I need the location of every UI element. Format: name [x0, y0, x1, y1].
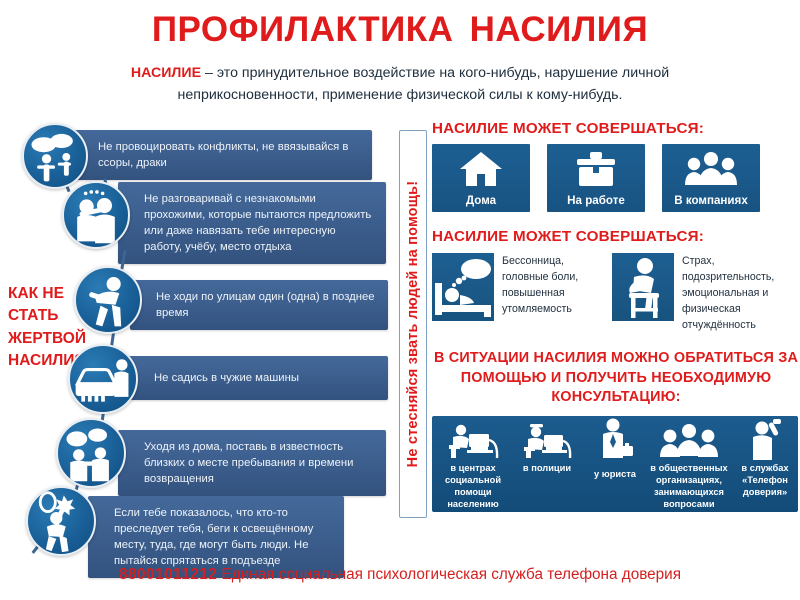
list-item[interactable]: Не садись в чужие машины	[128, 356, 388, 400]
symptom-text: Бессонница, головные боли, повышенная ут…	[502, 253, 598, 317]
briefcase-icon	[547, 149, 645, 189]
help-option-label: у юриста	[594, 469, 636, 479]
place-label: На работе	[547, 194, 645, 207]
help-option-label: в службах «Телефон доверия»	[741, 463, 788, 497]
place-label: Дома	[432, 194, 530, 207]
ngo-group-icon	[646, 420, 732, 460]
symptom-text: Страх, подозрительность, эмоциональная и…	[682, 253, 778, 333]
list-item[interactable]: Не провоцировать конфликты, не ввязывайс…	[72, 130, 372, 180]
group-people-icon	[662, 149, 760, 189]
help-option-label: в центрах социальной помощи населению	[445, 463, 501, 509]
list-item[interactable]: Не ходи по улицам один (одна) в позднее …	[130, 280, 388, 330]
place-label: В компаниях	[662, 194, 760, 207]
symptoms-section-title: НАСИЛИЕ МОЖЕТ СОВЕРШАТЬСЯ:	[432, 228, 800, 245]
tip-text: Уходя из дома, поставь в известность бли…	[118, 430, 386, 496]
hotline-footer: 88001011212 Единая социальная психологич…	[0, 566, 800, 584]
person-on-stool-icon	[612, 253, 674, 321]
tip-text: Не разговаривай с незнакомыми прохожими,…	[118, 182, 386, 264]
places-section-title: НАСИЛИЕ МОЖЕТ СОВЕРШАТЬСЯ:	[432, 120, 800, 137]
prevention-tips-column: КАК НЕ СТАТЬ ЖЕРТВОЙ НАСИЛИЯ Не провоцир…	[0, 118, 400, 558]
insomnia-bed-icon	[432, 253, 494, 321]
stranger-talking-icon	[62, 181, 130, 249]
definition-text: НАСИЛИЕ – это принудительное воздействие…	[70, 62, 730, 106]
symptom-item-fear[interactable]: Страх, подозрительность, эмоциональная и…	[612, 253, 778, 333]
leaving-home-icon	[56, 418, 126, 488]
house-icon	[432, 149, 530, 189]
places-tile-row: Дома На работе	[432, 144, 800, 212]
help-option-social-centers[interactable]: в центрах социальной помощи населению	[434, 420, 512, 510]
call-for-help-text: Не стесняйся звать людей на помощь!	[405, 181, 421, 468]
symptom-item-insomnia[interactable]: Бессонница, головные боли, повышенная ут…	[432, 253, 598, 333]
right-column: НАСИЛИЕ МОЖЕТ СОВЕРШАТЬСЯ: Дома На работ…	[432, 120, 800, 560]
place-tile-home[interactable]: Дома	[432, 144, 530, 212]
list-item[interactable]: Уходя из дома, поставь в известность бли…	[118, 430, 386, 496]
tip-text: Не садись в чужие машины	[128, 356, 388, 400]
help-option-label: в общественных организациях, занимающихс…	[650, 463, 727, 512]
place-tile-work[interactable]: На работе	[547, 144, 645, 212]
car-stranger-icon	[68, 344, 138, 414]
help-option-ngo[interactable]: в общественных организациях, занимающихс…	[646, 420, 732, 512]
people-arguing-icon	[22, 123, 88, 189]
lawyer-briefcase-icon	[582, 426, 648, 466]
page-title: ПРОФИЛАКТИКА НАСИЛИЯ	[0, 10, 800, 50]
help-option-label: в полиции	[523, 463, 571, 473]
symptoms-row: Бессонница, головные боли, повышенная ут…	[432, 253, 800, 333]
person-running-away-icon	[26, 486, 96, 556]
list-item[interactable]: Не разговаривай с незнакомыми прохожими,…	[118, 182, 386, 264]
help-options-panel: в центрах социальной помощи населению в …	[432, 416, 798, 512]
definition-term: НАСИЛИЕ	[131, 65, 201, 81]
hotline-description: Единая социальная психологическая служба…	[217, 566, 681, 583]
definition-body: – это принудительное воздействие на кого…	[178, 65, 670, 103]
help-option-hotline[interactable]: в службах «Телефон доверия»	[732, 420, 798, 498]
place-tile-company[interactable]: В компаниях	[662, 144, 760, 212]
help-section-title: В СИТУАЦИИ НАСИЛИЯ МОЖНО ОБРАТИТЬСЯ ЗА П…	[432, 349, 800, 407]
hotline-phone-icon	[732, 420, 798, 460]
tip-text: Не провоцировать конфликты, не ввязывайс…	[72, 130, 372, 180]
social-worker-desk-icon	[434, 420, 512, 460]
person-walking-night-icon	[74, 266, 142, 334]
help-option-lawyer[interactable]: у юриста	[582, 426, 648, 480]
police-officer-desk-icon	[512, 420, 582, 460]
tip-text: Не ходи по улицам один (одна) в позднее …	[130, 280, 388, 330]
call-for-help-banner: Не стесняйся звать людей на помощь!	[399, 130, 427, 518]
help-option-police[interactable]: в полиции	[512, 420, 582, 474]
hotline-phone-number: 88001011212	[119, 566, 217, 583]
